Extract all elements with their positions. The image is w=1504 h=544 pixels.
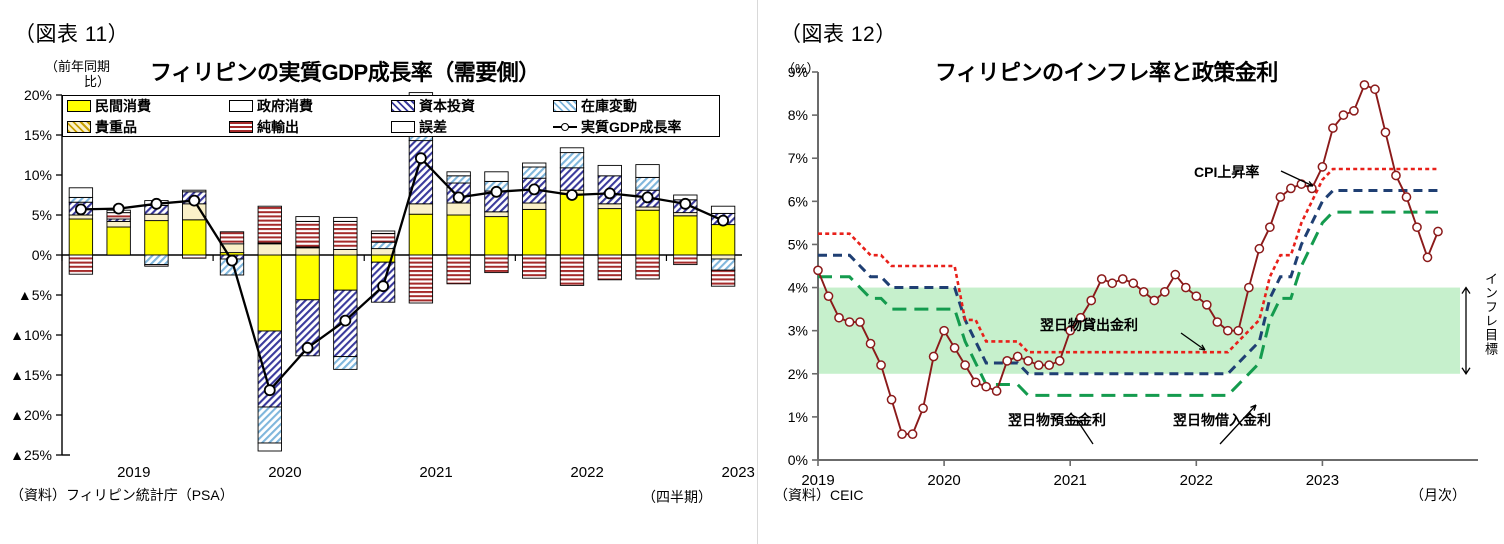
right-ytick-label: 0% [788,452,808,468]
legend-item-inventory-change: 在庫変動 [553,96,715,116]
gdp-marker [491,187,501,197]
gdp-marker [643,192,653,202]
legend-label-government-consumption: 政府消費 [257,96,313,116]
bar-segment-discrepancy [183,190,206,192]
bar-segment-net-exports [711,270,734,286]
bar-segment-inventory-change [69,197,92,202]
cpi-marker [919,404,927,412]
left-xtick-label: 2022 [570,464,603,481]
bar-segment-capital-investment [560,168,583,190]
legend-label-inventory-change: 在庫変動 [581,96,637,116]
cpi-marker [1140,288,1148,296]
bar-segment-government-consumption [107,221,130,227]
bar-segment-net-exports [560,255,583,285]
right-ytick-label: 5% [788,236,808,252]
cpi-marker [1119,275,1127,283]
left-ytick-label: ▲25% [10,447,52,463]
legend-item-real-gdp-growth: 実質GDP成長率 [553,117,715,137]
bar-segment-net-exports [371,233,394,242]
bar-segment-government-consumption [674,213,697,216]
right-ytick-label: 3% [788,323,808,339]
cpi-marker [1276,193,1284,201]
bar-segment-government-consumption [523,203,546,209]
bar-segment-private-consumption [523,209,546,255]
bar-segment-net-exports [69,255,92,274]
gdp-marker [303,343,313,353]
cpi-marker [1266,223,1274,231]
bar-segment-discrepancy [711,206,734,213]
gdp-marker [680,199,690,209]
annotation-lending-rate: 翌日物貸出金利 [1040,315,1138,335]
swatch-capital-investment [391,100,415,112]
bar-segment-net-exports [598,255,621,280]
figure-12-panel: （図表 12） フィリピンのインフレ率と政策金利 （%） 0%1%2%3%4%5… [760,0,1504,544]
bar-segment-private-consumption [107,227,130,255]
bar-segment-inventory-change [523,167,546,178]
inflation-target-band [818,288,1460,374]
swatch-valuables [67,121,91,133]
annotation-inflation-target: インフレ目標 [1481,272,1500,356]
cpi-marker [1045,361,1053,369]
bar-segment-government-consumption [258,244,281,255]
bar-segment-discrepancy [485,172,508,182]
cpi-marker [1129,279,1137,287]
cpi-marker [1255,245,1263,253]
cpi-marker [1024,357,1032,365]
figure-12-number: （図表 12） [780,18,897,48]
bar-segment-private-consumption [485,217,508,255]
left-xtick-label: 2023 [722,464,755,481]
figure-11-panel: （図表 11） フィリピンの実質GDP成長率（需要側） （前年同期 比） 20%… [0,0,760,544]
cpi-marker [982,383,990,391]
bar-segment-net-exports [334,221,357,249]
bar-segment-net-exports [145,265,168,267]
cpi-marker [1192,292,1200,300]
legend-item-valuables: 貴重品 [67,117,229,137]
bar-segment-government-consumption [334,249,357,255]
cpi-marker [1413,223,1421,231]
bar-segment-private-consumption [409,214,432,255]
legend-label-private-consumption: 民間消費 [95,96,151,116]
swatch-private-consumption [67,100,91,112]
cpi-marker [1402,193,1410,201]
cpi-marker [1360,81,1368,89]
cpi-marker [1381,128,1389,136]
cpi-marker [1056,357,1064,365]
bar-segment-private-consumption [674,216,697,255]
swatch-government-consumption [229,100,253,112]
cpi-marker [1371,85,1379,93]
cpi-marker [1161,288,1169,296]
gdp-marker [114,204,124,214]
cpi-marker [929,352,937,360]
bar-segment-private-consumption [296,255,319,300]
bar-segment-net-exports [447,255,470,284]
bar-segment-discrepancy [447,172,470,176]
bar-segment-discrepancy [371,231,394,233]
bar-segment-private-consumption [258,255,281,331]
swatch-real-gdp-growth [553,121,577,133]
bar-segment-government-consumption [598,204,621,209]
left-ytick-label: 0% [32,247,52,263]
bar-segment-net-exports [409,255,432,303]
gdp-marker [529,184,539,194]
cpi-marker [908,430,916,438]
right-ytick-label: 6% [788,193,808,209]
legend-label-net-exports: 純輸出 [257,117,299,137]
cpi-marker [1224,327,1232,335]
cpi-marker [1150,296,1158,304]
line-cpi [818,85,1438,434]
bar-segment-government-consumption [485,212,508,217]
legend-label-capital-investment: 資本投資 [419,96,475,116]
figure-11-xaxis-unit: （四半期） [642,487,712,507]
cpi-marker [1035,361,1043,369]
bar-segment-government-consumption [296,248,319,255]
bar-segment-private-consumption [560,194,583,255]
bar-segment-net-exports [674,255,697,265]
cpi-marker [835,314,843,322]
cpi-marker [887,396,895,404]
cpi-marker [1423,253,1431,261]
bar-segment-discrepancy [69,188,92,198]
bar-segment-inventory-change [258,407,281,443]
bar-segment-inventory-change [711,259,734,270]
legend-item-capital-investment: 資本投資 [391,96,553,116]
figure-12-plot: 0%1%2%3%4%5%6%7%8%9%20192020202120222023 [760,60,1504,530]
left-ytick-label: ▲20% [10,407,52,423]
left-ytick-label: ▲5% [18,287,52,303]
gdp-marker [718,216,728,226]
cpi-marker [961,361,969,369]
bar-segment-discrepancy [598,165,621,175]
bar-segment-private-consumption [598,209,621,255]
gdp-marker [378,281,388,291]
right-ytick-label: 1% [788,409,808,425]
bar-segment-inventory-change [560,153,583,168]
bar-segment-capital-investment [409,141,432,204]
cpi-marker [1245,283,1253,291]
real-gdp-growth-line [81,158,723,390]
gdp-marker [189,196,199,206]
cpi-marker [1087,296,1095,304]
bar-segment-inventory-change [145,255,168,265]
bar-segment-government-consumption [409,204,432,214]
annotation-cpi: CPI上昇率 [1194,162,1259,182]
bar-segment-private-consumption [145,221,168,255]
cpi-marker [1339,111,1347,119]
annotation-deposit-rate: 翌日物預金金利 [1008,410,1106,430]
cpi-marker [1392,171,1400,179]
cpi-marker [845,318,853,326]
gdp-marker [227,256,237,266]
right-xtick-label: 2023 [1306,472,1339,489]
cpi-marker [898,430,906,438]
gdp-marker [265,385,275,395]
cpi-marker [1234,327,1242,335]
cpi-marker [993,387,1001,395]
cpi-marker [1213,318,1221,326]
left-ytick-label: ▲10% [10,327,52,343]
bar-segment-private-consumption [69,219,92,255]
bar-segment-government-consumption [145,214,168,220]
right-ytick-label: 8% [788,107,808,123]
cpi-marker [1329,124,1337,132]
cpi-marker [1108,279,1116,287]
bar-segment-government-consumption [636,207,659,210]
gdp-marker [151,199,161,209]
legend-item-government-consumption: 政府消費 [229,96,391,116]
left-ytick-label: 5% [32,207,52,223]
legend-item-net-exports: 純輸出 [229,117,391,137]
bar-segment-private-consumption [183,220,206,255]
cpi-marker [1182,283,1190,291]
gdp-marker [340,316,350,326]
bar-segment-net-exports [485,255,508,273]
cpi-marker [1098,275,1106,283]
figure-12-xaxis-unit: （月次） [1410,485,1466,505]
left-xtick-label: 2021 [419,464,452,481]
cpi-marker [951,344,959,352]
cpi-marker [1203,301,1211,309]
gdp-marker [454,192,464,202]
bar-segment-net-exports [220,232,243,244]
cpi-marker [824,292,832,300]
bar-segment-inventory-change [447,176,470,183]
bar-segment-discrepancy [334,217,357,221]
bar-segment-inventory-change [334,357,357,370]
bar-segment-inventory-change [636,177,659,190]
left-ytick-label: 20% [24,87,52,103]
cpi-marker [814,266,822,274]
legend-label-real-gdp-growth: 実質GDP成長率 [581,117,681,137]
left-ytick-label: 15% [24,127,52,143]
bar-segment-government-consumption [69,215,92,219]
right-ytick-label: 2% [788,366,808,382]
right-xtick-label: 2022 [1180,472,1213,489]
cpi-marker [1171,271,1179,279]
annotation-borrowing-rate: 翌日物借入金利 [1173,410,1271,430]
cpi-marker [1287,184,1295,192]
cpi-marker [877,361,885,369]
bar-segment-discrepancy [296,217,319,222]
swatch-net-exports [229,121,253,133]
stacked-bars [69,93,735,451]
bar-segment-net-exports [296,221,319,247]
cpi-marker [1014,352,1022,360]
right-ytick-label: 9% [788,64,808,80]
bar-segment-net-exports [523,255,546,278]
gdp-marker [416,153,426,163]
swatch-inventory-change [553,100,577,112]
bar-segment-private-consumption [447,215,470,255]
left-ytick-label: 10% [24,167,52,183]
gdp-marker [76,204,86,214]
figure-12-source: （資料）CEIC [774,485,863,505]
left-xtick-label: 2020 [268,464,301,481]
bar-segment-private-consumption [711,225,734,255]
bar-segment-private-consumption [636,210,659,255]
bar-segment-discrepancy [523,163,546,167]
figure-11-number: （図表 11） [14,18,129,48]
legend-label-valuables: 貴重品 [95,117,137,137]
cpi-marker [866,340,874,348]
left-ytick-label: ▲15% [10,367,52,383]
cpi-marker [856,318,864,326]
figure-11-legend: 民間消費 政府消費 資本投資 在庫変動 貴重品 純輸出 誤差 実質GDP成長 [62,95,720,137]
bar-segment-inventory-change [371,242,394,248]
cpi-marker [1350,107,1358,115]
bar-segment-private-consumption [334,255,357,290]
legend-item-private-consumption: 民間消費 [67,96,229,116]
swatch-discrepancy [391,121,415,133]
bar-segment-discrepancy [636,165,659,178]
right-xtick-label: 2021 [1054,472,1087,489]
bar-segment-government-consumption [711,255,734,259]
bar-segment-government-consumption [447,203,470,215]
bar-segment-discrepancy [560,148,583,153]
bar-segment-government-consumption [371,249,394,255]
bar-segment-net-exports [183,255,206,258]
bar-segment-net-exports [258,206,281,243]
right-ytick-label: 7% [788,150,808,166]
gdp-marker [605,188,615,198]
legend-label-discrepancy: 誤差 [419,117,447,137]
legend-item-discrepancy: 誤差 [391,117,553,137]
cpi-marker [1434,227,1442,235]
figure-11-source: （資料）フィリピン統計庁（PSA） [10,485,234,505]
cpi-marker [1003,357,1011,365]
cpi-marker [940,327,948,335]
right-ytick-label: 4% [788,280,808,296]
gdp-marker [567,190,577,200]
bar-segment-net-exports [636,255,659,279]
left-xtick-label: 2019 [117,464,150,481]
cpi-marker [972,378,980,386]
right-xtick-label: 2020 [927,472,960,489]
bar-segment-discrepancy [258,443,281,451]
cpi-marker [1318,163,1326,171]
